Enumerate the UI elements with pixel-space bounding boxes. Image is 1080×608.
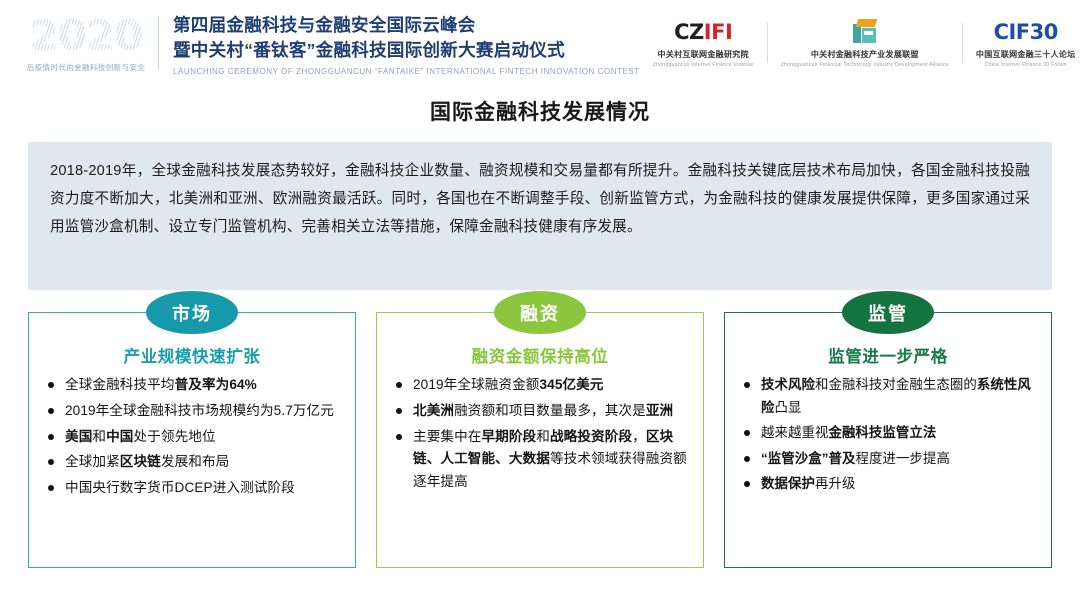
bullet-item: 北美洲融资额和项目数量最多，其次是亚洲 xyxy=(393,400,689,423)
bullet-item: 主要集中在早期阶段和战略投资阶段，区块链、人工智能、大数据等技术领域获得融资额逐… xyxy=(393,426,689,494)
bullet-emphasis: 战略投资阶段 xyxy=(550,429,632,444)
bullet-emphasis: 亚洲 xyxy=(646,403,673,418)
card-regulation-heading: 监管进一步严格 xyxy=(735,343,1041,367)
bullet-emphasis: 北美洲 xyxy=(413,403,454,418)
zgc-alliance-logo-cn: 中关村金融科技产业发展联盟 xyxy=(781,49,949,60)
cards-row: 市场 产业规模快速扩张 全球金融科技平均普及率为64%2019年全球金融科技市场… xyxy=(28,312,1052,568)
bullet-text: 再升级 xyxy=(815,476,855,491)
card-financing: 融资 融资金额保持高位 2019年全球融资金额345亿美元北美洲融资额和项目数量… xyxy=(376,312,704,568)
bullet-item: 越来越重视金融科技监管立法 xyxy=(741,422,1037,445)
bullet-item: 美国和中国处于领先地位 xyxy=(45,426,341,449)
bullet-text: 和金融科技对金融生态圈的 xyxy=(815,377,977,392)
partner-logo-zgc-alliance: 中关村金融科技产业发展联盟 Zhongguancun Financial Tec… xyxy=(768,19,962,68)
event-title-block: 第四届金融科技与金融安全国际云峰会 暨中关村“番钛客”金融科技国际创新大赛启动仪… xyxy=(173,10,640,76)
bullet-emphasis: 中国 xyxy=(106,429,133,444)
bullet-emphasis: “监管沙盒”普及 xyxy=(761,451,856,466)
bullet-text: 和 xyxy=(536,429,550,444)
ezifi-mark-part2: IFI xyxy=(704,20,732,44)
card-regulation: 监管 监管进一步严格 技术风险和金融科技对金融生态圈的系统性风险凸显越来越重视金… xyxy=(724,312,1052,568)
bullet-item: 全球加紧区块链发展和布局 xyxy=(45,451,341,474)
bullet-emphasis: 早期阶段 xyxy=(481,429,536,444)
bullet-emphasis: 数据保护 xyxy=(761,476,815,491)
card-financing-heading: 融资金额保持高位 xyxy=(387,343,693,367)
bullet-text: 2019年全球金融科技市场规模约为5.7万亿元 xyxy=(65,403,334,418)
partner-logos: CZIFI 中关村互联网金融研究院 Zhongguancun Internet … xyxy=(640,19,1080,68)
intro-summary-box: 2018-2019年，全球金融科技发展态势较好，金融科技企业数量、融资规模和交易… xyxy=(28,142,1052,290)
bullet-text: 越来越重视 xyxy=(761,425,828,440)
ezifi-mark-part1: CZ xyxy=(674,20,704,44)
zgc-alliance-logo-en: Zhongguancun Financial Technology Indust… xyxy=(781,62,949,68)
bullet-emphasis: 345亿美元 xyxy=(540,377,604,392)
page-title: 国际金融科技发展情况 xyxy=(0,96,1080,126)
card-market-bullet-list: 全球金融科技平均普及率为64%2019年全球金融科技市场规模约为5.7万亿元美国… xyxy=(39,374,345,500)
header-divider xyxy=(158,16,159,70)
bullet-text: 全球金融科技平均 xyxy=(65,377,175,392)
cif30-logo-icon: CIF30 xyxy=(976,19,1076,45)
bullet-item: 技术风险和金融科技对金融生态圈的系统性风险凸显 xyxy=(741,374,1037,419)
bullet-emphasis: 美国 xyxy=(65,429,92,444)
bullet-item: 2019年全球融资金额345亿美元 xyxy=(393,374,689,397)
bullet-text: 和 xyxy=(92,429,106,444)
bullet-text: 融资额和项目数量最多，其次是 xyxy=(454,403,646,418)
bullet-item: 2019年全球金融科技市场规模约为5.7万亿元 xyxy=(45,400,341,423)
bullet-text: 凸显 xyxy=(775,400,802,415)
cif30-mark-text: CIF30 xyxy=(994,20,1058,44)
bullet-emphasis: 普及率为64% xyxy=(175,377,257,392)
card-market: 市场 产业规模快速扩张 全球金融科技平均普及率为64%2019年全球金融科技市场… xyxy=(28,312,356,568)
card-financing-bullet-list: 2019年全球融资金额345亿美元北美洲融资额和项目数量最多，其次是亚洲主要集中… xyxy=(387,374,693,494)
bullet-text: 中国央行数字货币DCEP进入测试阶段 xyxy=(65,480,295,495)
bullet-item: 全球金融科技平均普及率为64% xyxy=(45,374,341,397)
ezifi-logo-icon: CZIFI xyxy=(653,19,754,45)
year-logo-number: 2020 xyxy=(22,15,150,57)
bullet-item: 中国央行数字货币DCEP进入测试阶段 xyxy=(45,477,341,500)
bullet-text: 主要集中在 xyxy=(413,429,481,444)
bullet-text: 处于领先地位 xyxy=(133,429,215,444)
bullet-item: “监管沙盒”普及程度进一步提高 xyxy=(741,448,1037,471)
bullet-text: 发展和布局 xyxy=(161,454,229,469)
bullet-emphasis: 金融科技监管立法 xyxy=(828,425,936,440)
year-logo-tagline: 后疫情时代的金融科技创新与安全 xyxy=(22,62,150,73)
zgc-alliance-logo-icon xyxy=(781,19,949,45)
event-title-line2: 暨中关村“番钛客”金融科技国际创新大赛启动仪式 xyxy=(173,38,640,63)
card-financing-pill: 融资 xyxy=(494,291,586,334)
ezifi-logo-cn: 中关村互联网金融研究院 xyxy=(653,49,754,60)
bullet-text: ， xyxy=(632,429,646,444)
event-title-english: LAUNCHING CEREMONY OF ZHONGGUANCUN “FANT… xyxy=(173,67,640,76)
event-title-line1: 第四届金融科技与金融安全国际云峰会 xyxy=(173,13,640,38)
bullet-item: 数据保护再升级 xyxy=(741,473,1037,496)
bullet-emphasis: 区块链 xyxy=(120,454,161,469)
card-regulation-pill: 监管 xyxy=(842,291,934,334)
card-market-pill: 市场 xyxy=(146,291,238,334)
bullet-text: 程度进一步提高 xyxy=(856,451,950,466)
partner-logo-cif30: CIF30 中国互联网金融三十人论坛 China Internet Financ… xyxy=(963,19,1080,68)
card-regulation-bullet-list: 技术风险和金融科技对金融生态圈的系统性风险凸显越来越重视金融科技监管立法“监管沙… xyxy=(735,374,1041,496)
ezifi-logo-en: Zhongguancun Internet Finance Institute xyxy=(653,62,754,68)
page-header: 2020 后疫情时代的金融科技创新与安全 第四届金融科技与金融安全国际云峰会 暨… xyxy=(0,0,1080,86)
cif30-logo-en: China Internet Finance 30 Forum xyxy=(976,62,1076,68)
bullet-text: 2019年全球融资金额 xyxy=(413,377,540,392)
cif30-logo-cn: 中国互联网金融三十人论坛 xyxy=(976,49,1076,60)
bullet-emphasis: 技术风险 xyxy=(761,377,815,392)
event-year-logo: 2020 后疫情时代的金融科技创新与安全 xyxy=(22,13,150,73)
partner-logo-ezifi: CZIFI 中关村互联网金融研究院 Zhongguancun Internet … xyxy=(640,19,767,68)
card-market-heading: 产业规模快速扩张 xyxy=(39,343,345,367)
intro-paragraph: 2018-2019年，全球金融科技发展态势较好，金融科技企业数量、融资规模和交易… xyxy=(50,157,1030,241)
bullet-text: 全球加紧 xyxy=(65,454,120,469)
